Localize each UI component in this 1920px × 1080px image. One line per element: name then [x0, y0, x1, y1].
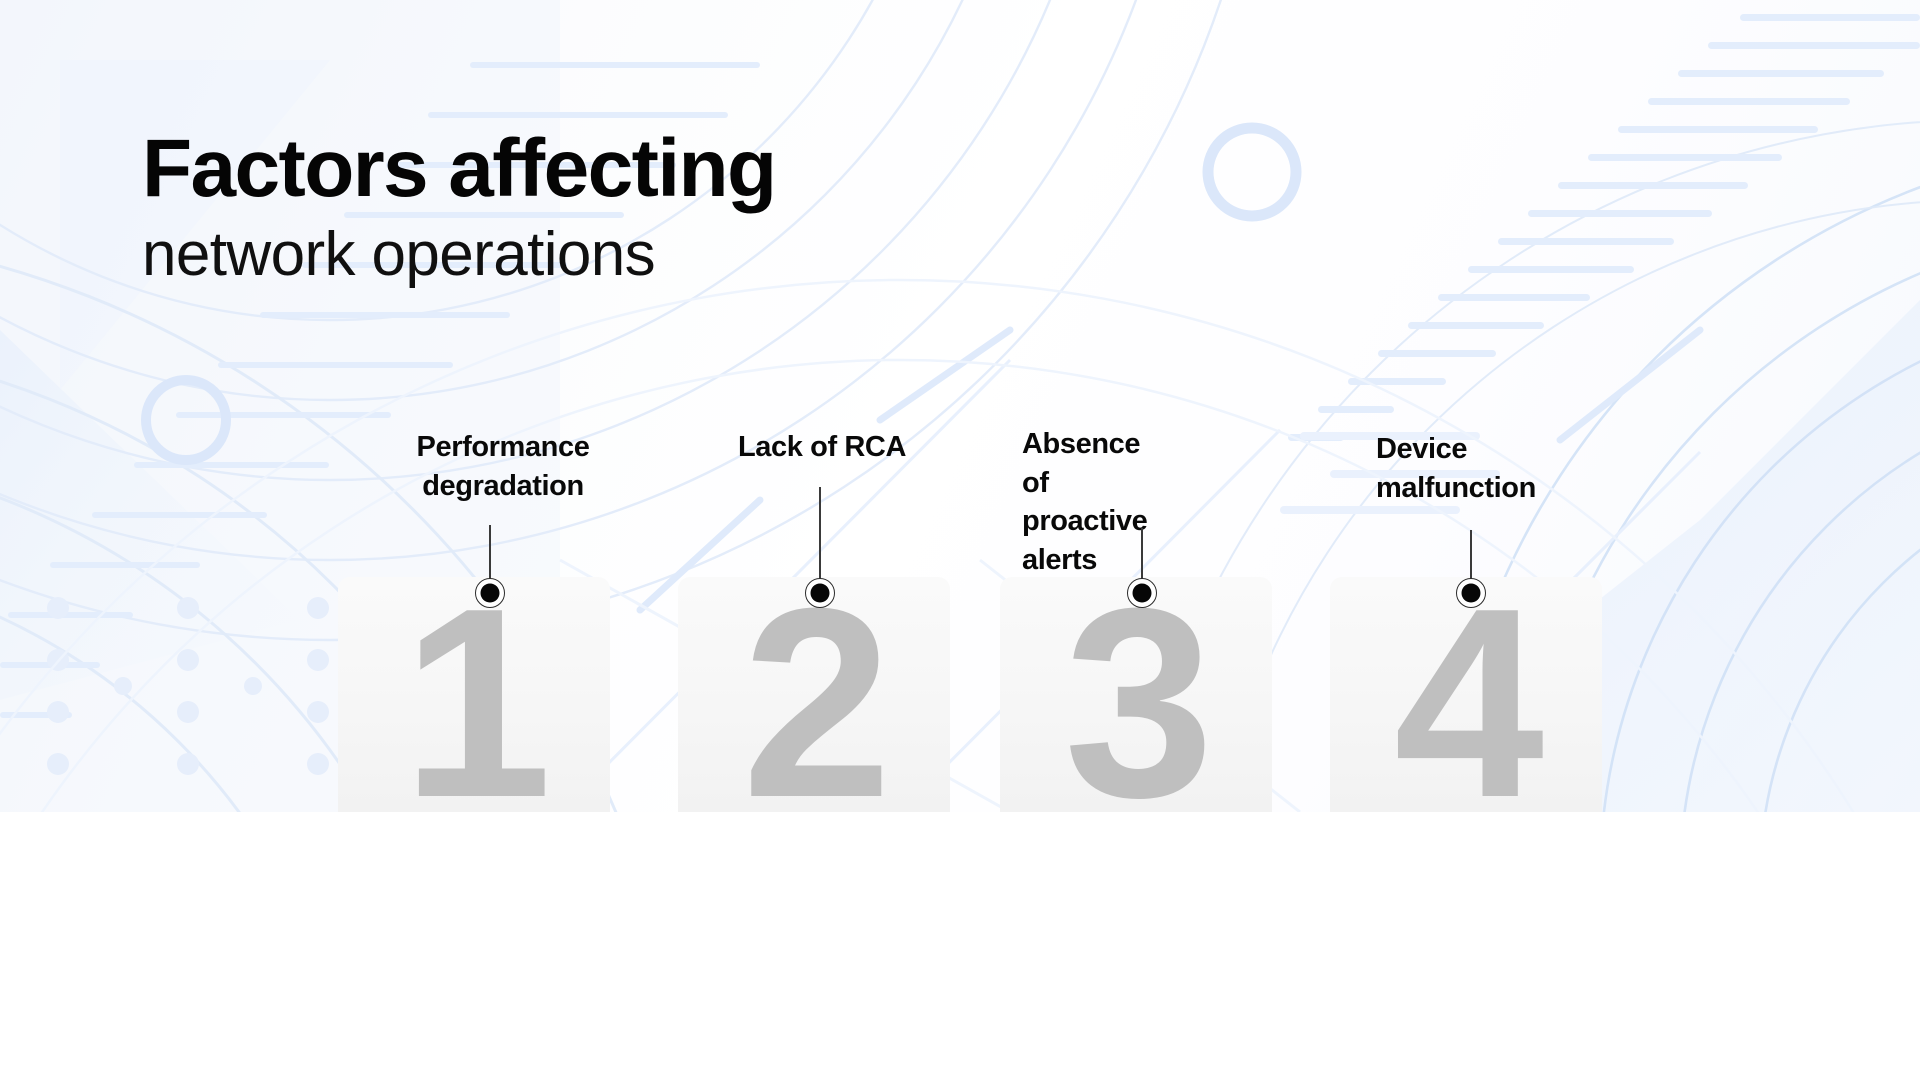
number-card-3: 3	[1000, 577, 1272, 812]
marker-dot-1[interactable]	[475, 578, 505, 608]
number-card-1: 1	[338, 577, 610, 812]
number-glyph-1: 1	[338, 577, 610, 812]
slide-canvas: Factors affecting network operations 1 P…	[0, 0, 1920, 812]
connector-line-2	[819, 487, 821, 591]
number-glyph-4: 4	[1330, 577, 1602, 812]
marker-dot-2[interactable]	[805, 578, 835, 608]
marker-dot-4[interactable]	[1456, 578, 1486, 608]
number-card-2: 2	[678, 577, 950, 812]
number-glyph-3: 3	[1000, 577, 1272, 812]
bottom-white-band	[0, 812, 1920, 1080]
page-subtitle: network operations	[142, 224, 776, 286]
factor-label-1: Performance degradation	[378, 428, 628, 505]
factor-label-3: Absence of proactive alerts	[1022, 425, 1147, 579]
factor-label-2: Lack of RCA	[712, 428, 932, 467]
slide-root: Factors affecting network operations 1 P…	[0, 0, 1920, 1080]
factors-list: 1 Performance degradation 2 Lack of RCA …	[0, 0, 1920, 812]
headline-block: Factors affecting network operations	[142, 128, 776, 286]
page-title: Factors affecting	[142, 128, 776, 210]
marker-dot-3[interactable]	[1127, 578, 1157, 608]
number-glyph-2: 2	[678, 577, 950, 812]
number-card-4: 4	[1330, 577, 1602, 812]
factor-label-4: Device malfunction	[1376, 430, 1536, 507]
